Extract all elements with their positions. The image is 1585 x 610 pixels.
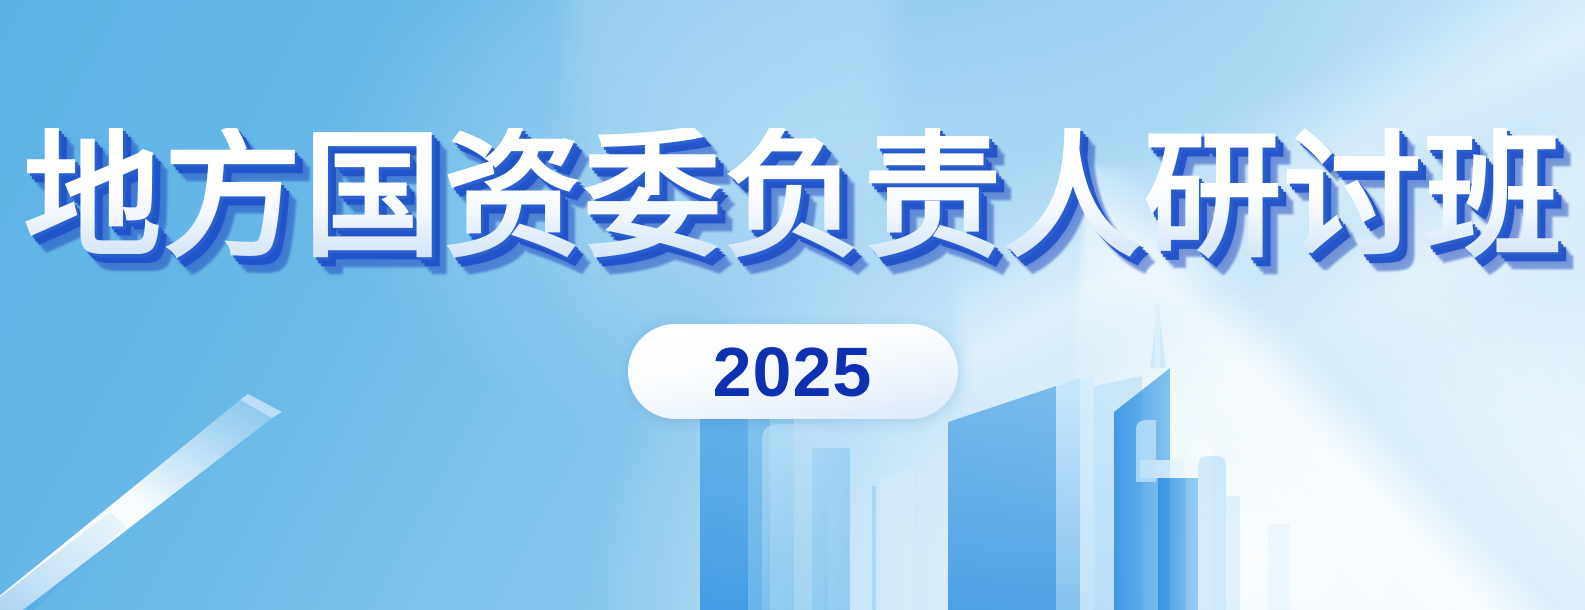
title-char-6: 责	[864, 128, 1002, 266]
title-char-3: 资	[443, 128, 581, 266]
title-char-0: 地	[23, 128, 161, 266]
year-badge-label: 2025	[713, 332, 873, 412]
banner-content: 地 方 国 资 委 负 责 人 研 讨 班 2025	[0, 0, 1585, 610]
title-char-8: 研	[1144, 128, 1282, 266]
title-char-1: 方	[163, 128, 301, 266]
title-char-4: 委	[583, 128, 721, 266]
year-badge: 2025	[628, 324, 958, 419]
title-char-7: 人	[1004, 128, 1142, 266]
banner-root: 地 方 国 资 委 负 责 人 研 讨 班 2025	[0, 0, 1585, 610]
title-char-10: 班	[1424, 128, 1562, 266]
title-char-5: 负	[723, 128, 861, 266]
page-title: 地 方 国 资 委 负 责 人 研 讨 班	[22, 128, 1562, 266]
title-char-2: 国	[303, 128, 441, 266]
title-char-9: 讨	[1284, 128, 1422, 266]
